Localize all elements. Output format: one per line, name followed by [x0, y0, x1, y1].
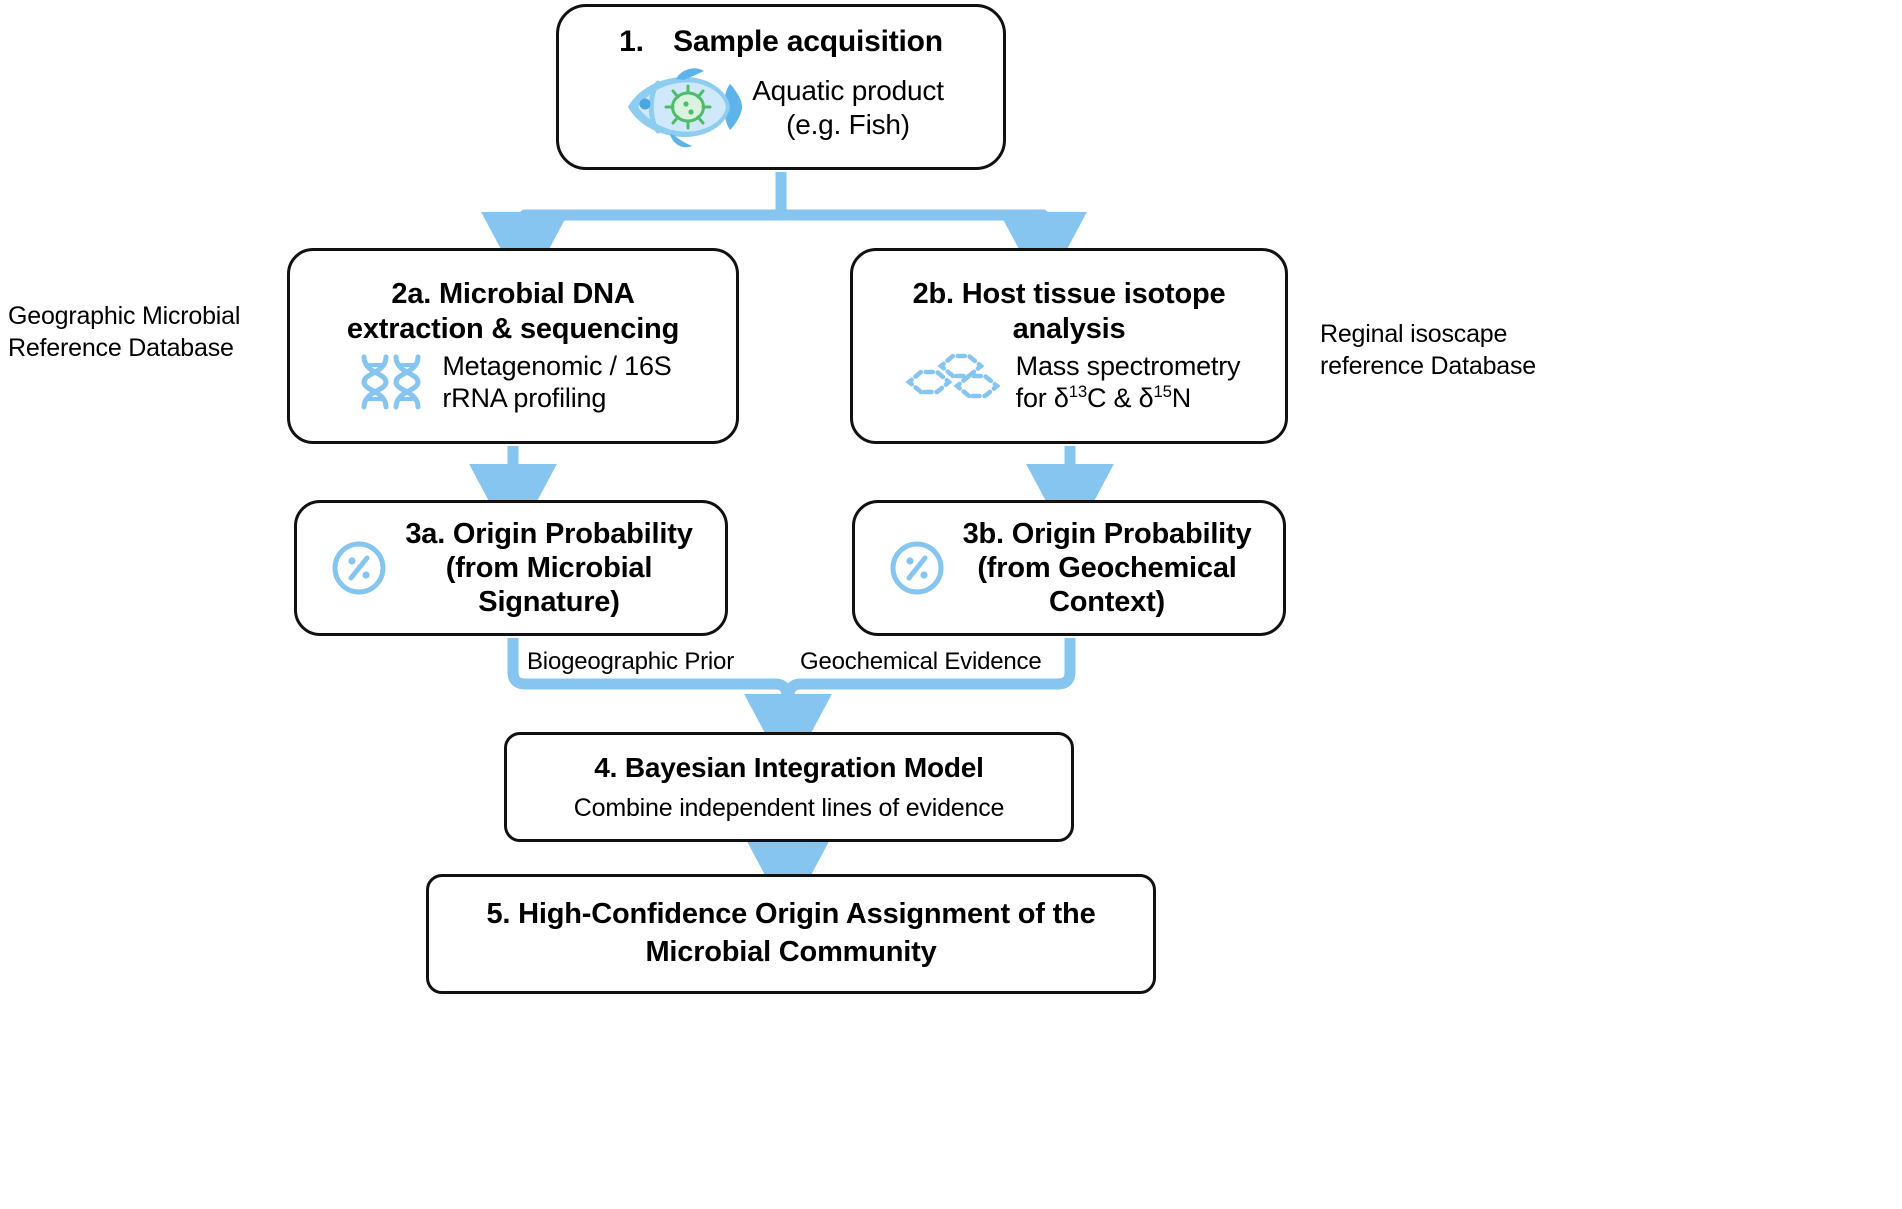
side-label-right-line2: reference Database — [1320, 350, 1610, 382]
node-step2b-sub-mid: C & — [1087, 383, 1139, 413]
node-step3a-title-line1: 3a. Origin Probability — [405, 517, 692, 551]
node-step4-subtitle: Combine independent lines of evidence — [574, 793, 1004, 823]
node-step5-title-line1: 5. High-Confidence Origin Assignment of … — [486, 896, 1095, 934]
dna-helix-icon — [354, 351, 428, 413]
percent-circle-icon — [329, 538, 389, 598]
node-step4-bayesian-integration-model[interactable]: 4. Bayesian Integration Model Combine in… — [504, 732, 1074, 842]
side-label-geographic-microbial-reference-database: Geographic Microbial Reference Database — [8, 300, 288, 364]
hexagon-molecule-icon — [898, 350, 1004, 414]
node-step3a-title: 3a. Origin Probability (from Microbial S… — [405, 517, 692, 620]
node-step2b-subtitle-line1: Mass spectrometry — [1016, 350, 1241, 382]
node-step2a-title-line2: extraction & sequencing — [347, 312, 679, 346]
side-label-left-line1: Geographic Microbial — [8, 300, 288, 332]
node-step5-title-line2: Microbial Community — [486, 934, 1095, 972]
side-label-regional-isoscape-reference-database: Reginal isoscape reference Database — [1320, 318, 1610, 382]
node-step2a-subtitle-line2: rRNA profiling — [442, 382, 671, 414]
node-step2b-delta2: δ — [1139, 383, 1154, 413]
node-step4-title: 4. Bayesian Integration Model — [594, 751, 983, 792]
node-step2a-title-line1: 2a. Microbial DNA — [347, 277, 679, 311]
connector-label-geochemical-evidence: Geochemical Evidence — [800, 648, 1041, 676]
node-step1-subtitle-line1: Aquatic product — [752, 74, 944, 108]
node-step2a-title: 2a. Microbial DNA extraction & sequencin… — [333, 277, 693, 349]
node-step3b-title-line3: Context) — [963, 585, 1252, 619]
node-step5-origin-assignment[interactable]: 5. High-Confidence Origin Assignment of … — [426, 874, 1156, 994]
percent-circle-icon — [887, 538, 947, 598]
node-step5-title: 5. High-Confidence Origin Assignment of … — [486, 896, 1095, 971]
node-step1-subtitle-line2: (e.g. Fish) — [752, 108, 944, 142]
node-step3a-origin-probability-microbial[interactable]: 3a. Origin Probability (from Microbial S… — [294, 500, 728, 636]
node-step2b-mass2: 15 — [1154, 382, 1172, 401]
node-step2b-subtitle-line2: for δ13C & δ15N — [1016, 382, 1241, 414]
side-label-left-line2: Reference Database — [8, 332, 288, 364]
node-step2b-mass1: 13 — [1069, 382, 1087, 401]
node-step2b-isotope-analysis[interactable]: 2b. Host tissue isotope analysis Mass sp… — [850, 248, 1288, 444]
node-step3b-origin-probability-geochemical[interactable]: 3b. Origin Probability (from Geochemical… — [852, 500, 1286, 636]
node-step2b-sub-suffix: N — [1172, 383, 1191, 413]
node-step2b-delta1: δ — [1054, 383, 1069, 413]
node-step2b-title-line2: analysis — [913, 312, 1226, 346]
node-step1-title: 1.Sample acquisition — [619, 24, 943, 65]
connector-step1-split — [520, 172, 1049, 236]
node-step2b-title: 2b. Host tissue isotope analysis — [899, 277, 1240, 349]
node-step3a-title-line2: (from Microbial — [405, 551, 692, 585]
side-label-right-line1: Reginal isoscape — [1320, 318, 1610, 350]
node-step1-sample-acquisition[interactable]: 1.Sample acquisition — [556, 4, 1006, 170]
connector-label-biogeographic-prior: Biogeographic Prior — [527, 648, 734, 676]
node-step3b-title-line2: (from Geochemical — [963, 551, 1252, 585]
node-step3b-title-line1: 3b. Origin Probability — [963, 517, 1252, 551]
diagram-canvas: 1.Sample acquisition — [0, 0, 1902, 1209]
node-step2b-sub-prefix: for — [1016, 383, 1054, 413]
node-step1-number: 1. — [619, 24, 673, 59]
node-step2b-title-line1: 2b. Host tissue isotope — [913, 277, 1226, 311]
node-step3b-title: 3b. Origin Probability (from Geochemical… — [963, 517, 1252, 620]
node-step3a-title-line3: Signature) — [405, 585, 692, 619]
node-step2a-subtitle-line1: Metagenomic / 16S — [442, 350, 671, 382]
node-step1-title-text: Sample acquisition — [673, 25, 943, 58]
node-step2a-dna-extraction[interactable]: 2a. Microbial DNA extraction & sequencin… — [287, 248, 739, 444]
fish-with-microbe-icon — [618, 66, 748, 150]
